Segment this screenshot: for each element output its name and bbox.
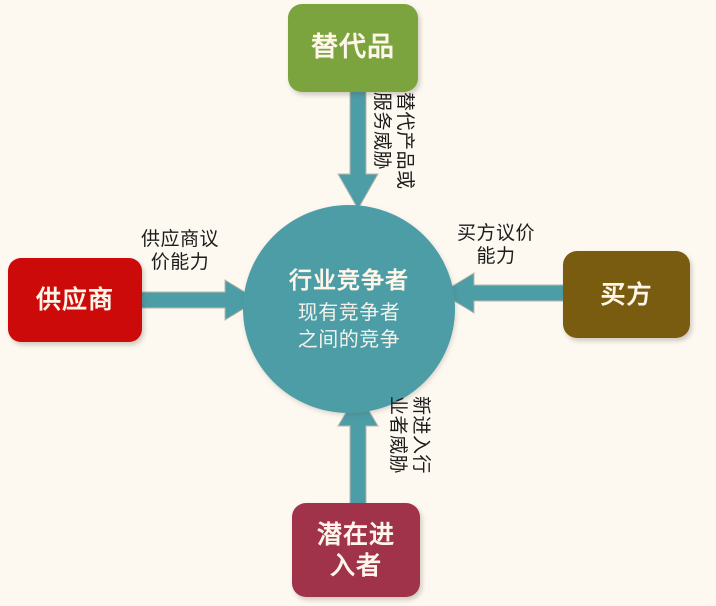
porter-five-forces-diagram: 替代品 供应商 买方 潜在进入者 行业竞争者 现有竞争者 之间的竞争 供应商议 …: [0, 0, 716, 606]
node-entrants[interactable]: 潜在进入者: [292, 503, 420, 597]
arrow-suppliers-to-center: [139, 279, 259, 321]
label-buyer-power-line2: 能力: [457, 245, 535, 268]
label-entrant-threat-line2: 业者威胁: [386, 396, 409, 474]
label-substitute-threat: 替代产品或 服务威胁: [370, 92, 416, 190]
label-buyer-power-line1: 买方议价: [457, 222, 535, 245]
rivalry-title: 行业竞争者: [289, 265, 409, 298]
label-supplier-power-line1: 供应商议: [141, 228, 219, 251]
node-industry-rivalry[interactable]: 行业竞争者 现有竞争者 之间的竞争: [243, 205, 455, 413]
label-entrant-threat-line1: 新进入行: [409, 396, 432, 474]
label-substitute-threat-line1: 替代产品或: [393, 92, 416, 190]
rivalry-subtitle: 现有竞争者 之间的竞争: [298, 299, 401, 353]
label-supplier-power-line2: 价能力: [141, 251, 219, 274]
label-substitute-threat-line2: 服务威胁: [370, 92, 393, 190]
node-entrants-label: 潜在进入者: [306, 519, 406, 582]
node-buyers-label: 买方: [600, 279, 652, 310]
rivalry-subtitle-line2: 之间的竞争: [298, 327, 401, 351]
rivalry-subtitle-line1: 现有竞争者: [298, 300, 401, 324]
label-supplier-bargaining-power: 供应商议 价能力: [141, 228, 219, 274]
arrow-buyers-to-center: [440, 272, 568, 314]
node-suppliers[interactable]: 供应商: [8, 258, 142, 342]
node-buyers[interactable]: 买方: [563, 251, 690, 338]
node-substitutes-label: 替代品: [311, 31, 395, 65]
node-suppliers-label: 供应商: [36, 284, 114, 315]
label-buyer-bargaining-power: 买方议价 能力: [457, 222, 535, 268]
label-new-entrant-threat: 新进入行 业者威胁: [386, 396, 432, 474]
node-substitutes[interactable]: 替代品: [288, 4, 418, 92]
